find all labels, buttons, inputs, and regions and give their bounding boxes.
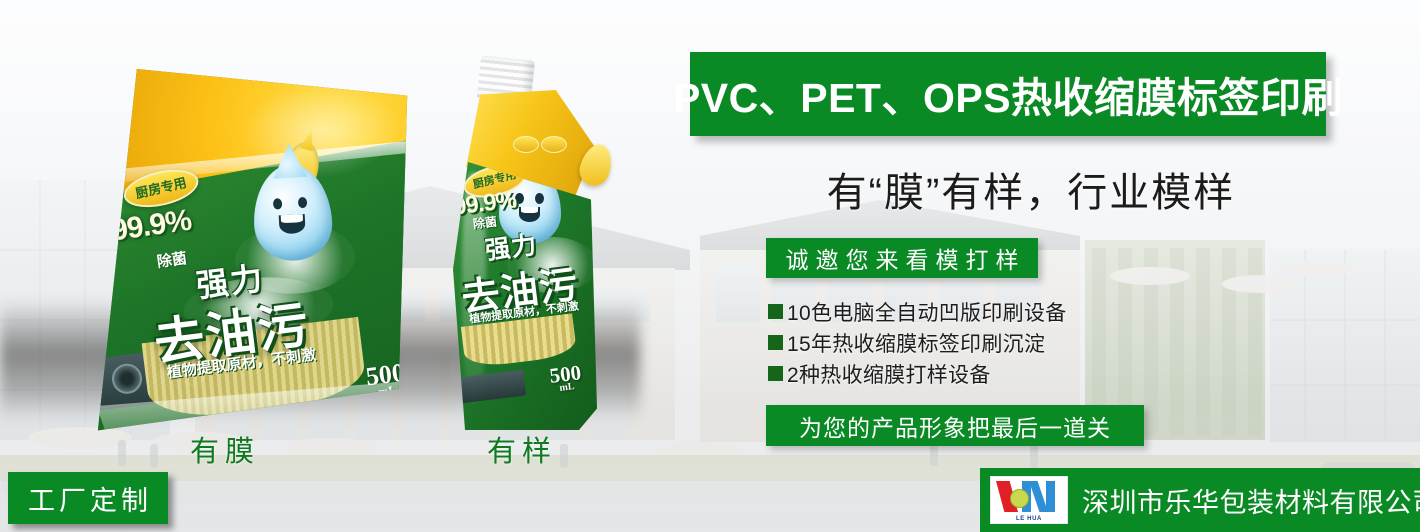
mascot-left-eye xyxy=(273,198,283,209)
label-pill-badge xyxy=(541,136,567,153)
bottle-volume-badge: 500 mL xyxy=(548,360,583,395)
pouch-caption: 有膜 xyxy=(190,428,260,470)
feature-text: 2种热收缩膜打样设备 xyxy=(787,359,991,389)
product-bottle: 厨房专用 99.9% 除菌 强力 去油污 植物提取原材，不刺激 500 mL xyxy=(435,58,615,430)
gas-stove-illustration xyxy=(450,370,527,405)
bottle-caption: 有样 xyxy=(487,428,557,470)
feature-list: 10色电脑全自动凹版印刷设备 15年热收缩膜标签印刷沉淀 2种热收缩膜打样设备 xyxy=(768,296,1188,389)
bullet-square-icon xyxy=(768,366,783,381)
product-pouch: 厨房专用 99.9% 除菌 强力 去油污 植物提取原材，不刺激 500 mL xyxy=(69,47,428,434)
mascot-mouth xyxy=(519,207,540,223)
invite-badge: 诚邀您来看模打样 xyxy=(766,238,1038,278)
promo-banner: PVC、PET、OPS热收缩膜标签印刷 有“膜”有样，行业模样 诚邀您来看模打样… xyxy=(0,0,1420,532)
headline-banner: PVC、PET、OPS热收缩膜标签印刷 xyxy=(690,52,1326,136)
bullet-square-icon xyxy=(768,304,783,319)
page-title: 有“膜”有样，行业模样 xyxy=(757,158,1305,220)
bullet-square-icon xyxy=(768,335,783,350)
feature-text: 15年热收缩膜标签印刷沉淀 xyxy=(787,328,1045,358)
stove-burner xyxy=(110,362,143,395)
logo-circle-shape xyxy=(1010,489,1029,508)
mascot-left-eye xyxy=(515,193,524,204)
company-name: 深圳市乐华包装材料有限公司 xyxy=(1082,481,1420,520)
logo-wordmark: LE HUA xyxy=(991,516,1067,522)
company-logo-icon: LE HUA xyxy=(990,476,1068,524)
feature-text: 10色电脑全自动凹版印刷设备 xyxy=(787,297,1067,327)
mascot-right-eye xyxy=(535,193,544,204)
logo-blue-right-stroke xyxy=(1046,481,1055,512)
company-bar: LE HUA 深圳市乐华包装材料有限公司 xyxy=(980,468,1420,532)
label-pill-badge xyxy=(513,136,539,153)
pouch-body: 厨房专用 99.9% 除菌 强力 去油污 植物提取原材，不刺激 500 mL xyxy=(69,47,428,434)
mascot-right-eye xyxy=(298,196,308,207)
list-item: 15年热收缩膜标签印刷沉淀 xyxy=(768,327,1188,358)
bottle-body: 厨房专用 99.9% 除菌 强力 去油污 植物提取原材，不刺激 500 mL xyxy=(447,162,597,430)
promise-badge: 为您的产品形象把最后一道关 xyxy=(766,405,1144,446)
pouch-volume-badge: 500 mL xyxy=(364,358,407,401)
sterilization-label: 除菌 xyxy=(156,247,189,272)
factory-custom-badge: 工厂定制 xyxy=(8,472,168,524)
list-item: 10色电脑全自动凹版印刷设备 xyxy=(768,296,1188,327)
mascot-mouth xyxy=(278,214,305,235)
list-item: 2种热收缩膜打样设备 xyxy=(768,358,1188,389)
